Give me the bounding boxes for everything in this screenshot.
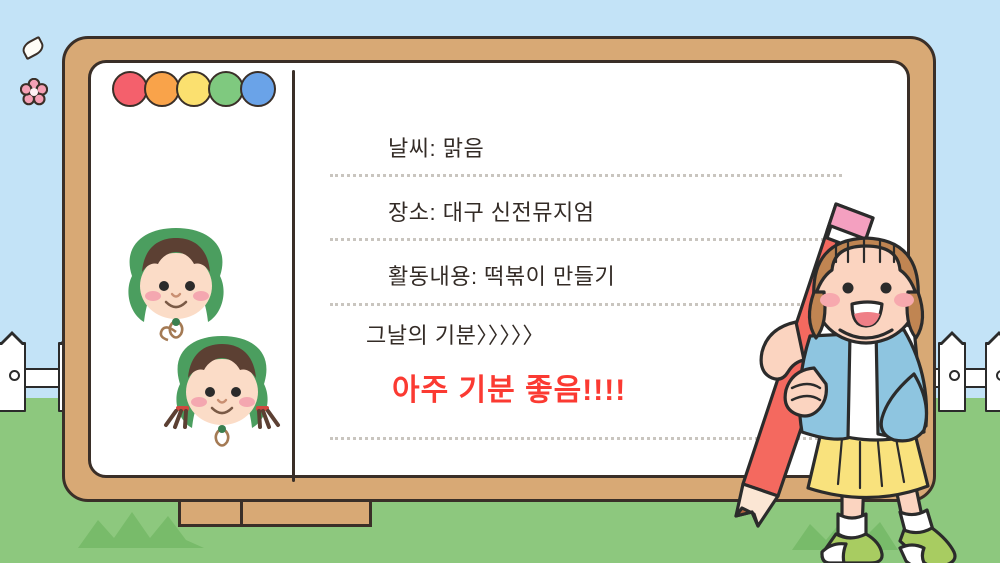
color-dots-row [112,71,272,107]
fence-picket [0,342,26,412]
color-dot-green[interactable] [208,71,244,107]
entry-weather: 날씨: 맑음 [388,131,484,163]
rule-line [330,174,842,177]
entry-place: 장소: 대구 신전뮤지엄 [388,195,595,227]
picket-hole [9,370,20,381]
board-ledge [240,499,372,527]
entry-activity: 활동내용: 떡볶이 만들기 [388,259,615,291]
flower-icon [20,78,48,106]
color-dot-red[interactable] [112,71,148,107]
girl-with-pencil-illustration [718,196,1000,563]
color-dot-yellow[interactable] [176,71,212,107]
entry-mood-label: 그날의 기분〉〉〉〉〉 [366,318,545,350]
diary-board-scene: 날씨: 맑음 장소: 대구 신전뮤지엄 활동내용: 떡볶이 만들기 그날의 기분… [0,0,1000,563]
color-dot-blue[interactable] [240,71,276,107]
color-dot-orange[interactable] [144,71,180,107]
entry-mood-value: 아주 기분 좋음!!!! [392,365,626,409]
girl-face-avatar [152,322,292,450]
vertical-divider [292,70,295,482]
